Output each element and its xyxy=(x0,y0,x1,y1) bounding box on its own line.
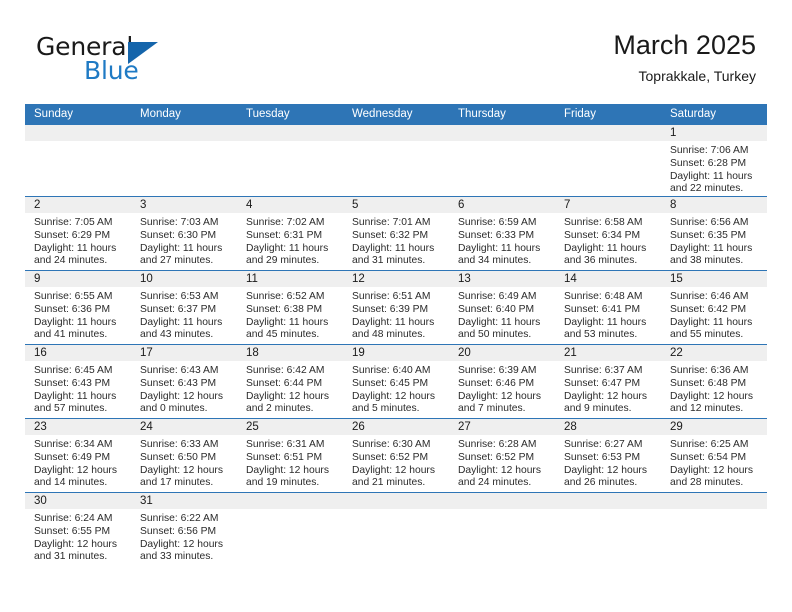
day-details: Sunrise: 6:36 AMSunset: 6:48 PMDaylight:… xyxy=(661,361,767,421)
daylight-text: Daylight: 11 hours and 45 minutes. xyxy=(246,317,338,343)
sunset-text: Sunset: 6:41 PM xyxy=(564,304,656,317)
daylight-text: Daylight: 12 hours and 21 minutes. xyxy=(352,465,444,491)
sunrise-text: Sunrise: 6:59 AM xyxy=(458,217,550,230)
day-number: 2 xyxy=(25,197,131,213)
sunrise-text: Sunrise: 6:58 AM xyxy=(564,217,656,230)
location-subtitle: Toprakkale, Turkey xyxy=(613,66,756,86)
sunset-text: Sunset: 6:45 PM xyxy=(352,378,444,391)
day-number: 29 xyxy=(661,419,767,435)
sunrise-text: Sunrise: 6:46 AM xyxy=(670,291,762,304)
page-header: General Blue March 2025 Toprakkale, Turk… xyxy=(0,0,792,96)
day-number: 21 xyxy=(555,345,661,361)
calendar-day-cell-empty xyxy=(555,125,661,196)
sunrise-text: Sunrise: 6:22 AM xyxy=(140,513,232,526)
weekday-header-saturday: Saturday xyxy=(661,104,767,125)
day-number xyxy=(449,125,555,141)
day-number xyxy=(131,125,237,141)
daylight-text: Daylight: 12 hours and 31 minutes. xyxy=(34,539,126,565)
sunset-text: Sunset: 6:49 PM xyxy=(34,452,126,465)
sunset-text: Sunset: 6:54 PM xyxy=(670,452,762,465)
day-details: Sunrise: 6:30 AMSunset: 6:52 PMDaylight:… xyxy=(343,435,449,495)
daylight-text: Daylight: 11 hours and 53 minutes. xyxy=(564,317,656,343)
day-details: Sunrise: 6:22 AMSunset: 6:56 PMDaylight:… xyxy=(131,509,237,569)
calendar-day-cell[interactable]: 3Sunrise: 7:03 AMSunset: 6:30 PMDaylight… xyxy=(131,197,237,270)
calendar-day-cell[interactable]: 18Sunrise: 6:42 AMSunset: 6:44 PMDayligh… xyxy=(237,345,343,418)
day-number: 10 xyxy=(131,271,237,287)
brand-name-blue: Blue xyxy=(84,56,139,85)
calendar-day-cell-empty xyxy=(131,125,237,196)
weekday-header-row: Sunday Monday Tuesday Wednesday Thursday… xyxy=(25,104,767,125)
day-details: Sunrise: 6:49 AMSunset: 6:40 PMDaylight:… xyxy=(449,287,555,347)
sunrise-text: Sunrise: 6:52 AM xyxy=(246,291,338,304)
sunrise-text: Sunrise: 7:01 AM xyxy=(352,217,444,230)
sunset-text: Sunset: 6:46 PM xyxy=(458,378,550,391)
calendar-week-row: 9Sunrise: 6:55 AMSunset: 6:36 PMDaylight… xyxy=(25,271,767,345)
day-details: Sunrise: 6:51 AMSunset: 6:39 PMDaylight:… xyxy=(343,287,449,347)
calendar-day-cell[interactable]: 22Sunrise: 6:36 AMSunset: 6:48 PMDayligh… xyxy=(661,345,767,418)
sunset-text: Sunset: 6:38 PM xyxy=(246,304,338,317)
day-number: 13 xyxy=(449,271,555,287)
sunset-text: Sunset: 6:52 PM xyxy=(458,452,550,465)
sunrise-text: Sunrise: 6:53 AM xyxy=(140,291,232,304)
calendar-day-cell-empty xyxy=(343,493,449,567)
day-number: 25 xyxy=(237,419,343,435)
day-details: Sunrise: 6:52 AMSunset: 6:38 PMDaylight:… xyxy=(237,287,343,347)
sunrise-text: Sunrise: 6:31 AM xyxy=(246,439,338,452)
daylight-text: Daylight: 11 hours and 43 minutes. xyxy=(140,317,232,343)
sunset-text: Sunset: 6:35 PM xyxy=(670,230,762,243)
calendar-day-cell-empty xyxy=(237,493,343,567)
day-number xyxy=(555,493,661,509)
day-details: Sunrise: 6:55 AMSunset: 6:36 PMDaylight:… xyxy=(25,287,131,347)
day-number: 11 xyxy=(237,271,343,287)
sunrise-text: Sunrise: 7:02 AM xyxy=(246,217,338,230)
sunset-text: Sunset: 6:42 PM xyxy=(670,304,762,317)
sunrise-text: Sunrise: 6:28 AM xyxy=(458,439,550,452)
daylight-text: Daylight: 11 hours and 48 minutes. xyxy=(352,317,444,343)
title-block: March 2025 Toprakkale, Turkey xyxy=(613,28,756,86)
sunset-text: Sunset: 6:37 PM xyxy=(140,304,232,317)
calendar-day-cell[interactable]: 8Sunrise: 6:56 AMSunset: 6:35 PMDaylight… xyxy=(661,197,767,270)
sunset-text: Sunset: 6:52 PM xyxy=(352,452,444,465)
sunset-text: Sunset: 6:40 PM xyxy=(458,304,550,317)
sunrise-text: Sunrise: 7:03 AM xyxy=(140,217,232,230)
daylight-text: Daylight: 12 hours and 28 minutes. xyxy=(670,465,762,491)
day-details: Sunrise: 6:37 AMSunset: 6:47 PMDaylight:… xyxy=(555,361,661,421)
calendar-day-cell-empty xyxy=(343,125,449,196)
day-details: Sunrise: 6:28 AMSunset: 6:52 PMDaylight:… xyxy=(449,435,555,495)
day-number: 4 xyxy=(237,197,343,213)
sunrise-text: Sunrise: 6:45 AM xyxy=(34,365,126,378)
day-details: Sunrise: 6:24 AMSunset: 6:55 PMDaylight:… xyxy=(25,509,131,569)
day-number: 31 xyxy=(131,493,237,509)
sunset-text: Sunset: 6:55 PM xyxy=(34,526,126,539)
calendar-day-cell[interactable]: 30Sunrise: 6:24 AMSunset: 6:55 PMDayligh… xyxy=(25,493,131,567)
day-number: 14 xyxy=(555,271,661,287)
day-number: 23 xyxy=(25,419,131,435)
day-number xyxy=(237,493,343,509)
calendar-week-row: 23Sunrise: 6:34 AMSunset: 6:49 PMDayligh… xyxy=(25,419,767,493)
calendar-week-row: 1Sunrise: 7:06 AMSunset: 6:28 PMDaylight… xyxy=(25,125,767,197)
day-details: Sunrise: 7:05 AMSunset: 6:29 PMDaylight:… xyxy=(25,213,131,273)
day-number: 27 xyxy=(449,419,555,435)
calendar-day-cell[interactable]: 5Sunrise: 7:01 AMSunset: 6:32 PMDaylight… xyxy=(343,197,449,270)
day-number: 30 xyxy=(25,493,131,509)
day-number: 12 xyxy=(343,271,449,287)
sunrise-text: Sunrise: 6:49 AM xyxy=(458,291,550,304)
day-number: 5 xyxy=(343,197,449,213)
weekday-header-tuesday: Tuesday xyxy=(237,104,343,125)
day-number xyxy=(343,125,449,141)
sunrise-text: Sunrise: 6:39 AM xyxy=(458,365,550,378)
sunrise-text: Sunrise: 6:55 AM xyxy=(34,291,126,304)
day-details: Sunrise: 6:27 AMSunset: 6:53 PMDaylight:… xyxy=(555,435,661,495)
calendar-day-cell[interactable]: 16Sunrise: 6:45 AMSunset: 6:43 PMDayligh… xyxy=(25,345,131,418)
calendar-week-row: 16Sunrise: 6:45 AMSunset: 6:43 PMDayligh… xyxy=(25,345,767,419)
daylight-text: Daylight: 12 hours and 12 minutes. xyxy=(670,391,762,417)
sunset-text: Sunset: 6:34 PM xyxy=(564,230,656,243)
sunset-text: Sunset: 6:28 PM xyxy=(670,158,762,171)
day-details: Sunrise: 6:53 AMSunset: 6:37 PMDaylight:… xyxy=(131,287,237,347)
calendar-day-cell[interactable]: 28Sunrise: 6:27 AMSunset: 6:53 PMDayligh… xyxy=(555,419,661,492)
calendar-day-cell[interactable]: 21Sunrise: 6:37 AMSunset: 6:47 PMDayligh… xyxy=(555,345,661,418)
day-details: Sunrise: 7:06 AMSunset: 6:28 PMDaylight:… xyxy=(661,141,767,201)
daylight-text: Daylight: 11 hours and 27 minutes. xyxy=(140,243,232,269)
brand-logo: General Blue xyxy=(36,32,236,88)
daylight-text: Daylight: 11 hours and 34 minutes. xyxy=(458,243,550,269)
day-number: 22 xyxy=(661,345,767,361)
sunrise-text: Sunrise: 7:06 AM xyxy=(670,145,762,158)
calendar-day-cell[interactable]: 1Sunrise: 7:06 AMSunset: 6:28 PMDaylight… xyxy=(661,125,767,196)
daylight-text: Daylight: 12 hours and 7 minutes. xyxy=(458,391,550,417)
weekday-header-wednesday: Wednesday xyxy=(343,104,449,125)
calendar-day-cell[interactable]: 4Sunrise: 7:02 AMSunset: 6:31 PMDaylight… xyxy=(237,197,343,270)
day-number xyxy=(449,493,555,509)
daylight-text: Daylight: 11 hours and 36 minutes. xyxy=(564,243,656,269)
sunrise-text: Sunrise: 6:37 AM xyxy=(564,365,656,378)
weekday-header-monday: Monday xyxy=(131,104,237,125)
calendar-day-cell[interactable]: 6Sunrise: 6:59 AMSunset: 6:33 PMDaylight… xyxy=(449,197,555,270)
daylight-text: Daylight: 12 hours and 33 minutes. xyxy=(140,539,232,565)
day-number: 24 xyxy=(131,419,237,435)
sunrise-text: Sunrise: 6:30 AM xyxy=(352,439,444,452)
page-title: March 2025 xyxy=(613,28,756,62)
weekday-header-friday: Friday xyxy=(555,104,661,125)
day-number: 8 xyxy=(661,197,767,213)
day-number: 6 xyxy=(449,197,555,213)
calendar-day-cell[interactable]: 9Sunrise: 6:55 AMSunset: 6:36 PMDaylight… xyxy=(25,271,131,344)
sunrise-text: Sunrise: 6:34 AM xyxy=(34,439,126,452)
day-number: 17 xyxy=(131,345,237,361)
calendar-day-cell[interactable]: 29Sunrise: 6:25 AMSunset: 6:54 PMDayligh… xyxy=(661,419,767,492)
day-details: Sunrise: 6:34 AMSunset: 6:49 PMDaylight:… xyxy=(25,435,131,495)
day-details: Sunrise: 6:43 AMSunset: 6:43 PMDaylight:… xyxy=(131,361,237,421)
calendar-day-cell[interactable]: 19Sunrise: 6:40 AMSunset: 6:45 PMDayligh… xyxy=(343,345,449,418)
day-number xyxy=(25,125,131,141)
daylight-text: Daylight: 12 hours and 19 minutes. xyxy=(246,465,338,491)
daylight-text: Daylight: 12 hours and 2 minutes. xyxy=(246,391,338,417)
sunset-text: Sunset: 6:44 PM xyxy=(246,378,338,391)
sunset-text: Sunset: 6:39 PM xyxy=(352,304,444,317)
day-details: Sunrise: 6:46 AMSunset: 6:42 PMDaylight:… xyxy=(661,287,767,347)
daylight-text: Daylight: 11 hours and 50 minutes. xyxy=(458,317,550,343)
calendar-day-cell[interactable]: 10Sunrise: 6:53 AMSunset: 6:37 PMDayligh… xyxy=(131,271,237,344)
day-number: 18 xyxy=(237,345,343,361)
calendar-day-cell[interactable]: 20Sunrise: 6:39 AMSunset: 6:46 PMDayligh… xyxy=(449,345,555,418)
day-details: Sunrise: 7:03 AMSunset: 6:30 PMDaylight:… xyxy=(131,213,237,273)
sunrise-text: Sunrise: 6:51 AM xyxy=(352,291,444,304)
calendar-day-cell[interactable]: 13Sunrise: 6:49 AMSunset: 6:40 PMDayligh… xyxy=(449,271,555,344)
daylight-text: Daylight: 11 hours and 24 minutes. xyxy=(34,243,126,269)
day-number: 16 xyxy=(25,345,131,361)
sunset-text: Sunset: 6:43 PM xyxy=(34,378,126,391)
day-number: 9 xyxy=(25,271,131,287)
daylight-text: Daylight: 12 hours and 14 minutes. xyxy=(34,465,126,491)
calendar-day-cell[interactable]: 14Sunrise: 6:48 AMSunset: 6:41 PMDayligh… xyxy=(555,271,661,344)
sunrise-text: Sunrise: 6:43 AM xyxy=(140,365,232,378)
sunset-text: Sunset: 6:48 PM xyxy=(670,378,762,391)
day-number xyxy=(555,125,661,141)
sunrise-text: Sunrise: 6:42 AM xyxy=(246,365,338,378)
daylight-text: Daylight: 12 hours and 9 minutes. xyxy=(564,391,656,417)
day-details: Sunrise: 6:59 AMSunset: 6:33 PMDaylight:… xyxy=(449,213,555,273)
sunset-text: Sunset: 6:50 PM xyxy=(140,452,232,465)
day-number: 7 xyxy=(555,197,661,213)
day-details: Sunrise: 6:33 AMSunset: 6:50 PMDaylight:… xyxy=(131,435,237,495)
day-number: 3 xyxy=(131,197,237,213)
calendar-day-cell[interactable]: 15Sunrise: 6:46 AMSunset: 6:42 PMDayligh… xyxy=(661,271,767,344)
daylight-text: Daylight: 11 hours and 41 minutes. xyxy=(34,317,126,343)
calendar-day-cell-empty xyxy=(449,493,555,567)
sunset-text: Sunset: 6:36 PM xyxy=(34,304,126,317)
calendar-day-cell-empty xyxy=(237,125,343,196)
calendar-day-cell[interactable]: 12Sunrise: 6:51 AMSunset: 6:39 PMDayligh… xyxy=(343,271,449,344)
sunrise-text: Sunrise: 6:48 AM xyxy=(564,291,656,304)
sunrise-text: Sunrise: 6:24 AM xyxy=(34,513,126,526)
calendar-day-cell-empty xyxy=(449,125,555,196)
calendar-week-row: 2Sunrise: 7:05 AMSunset: 6:29 PMDaylight… xyxy=(25,197,767,271)
calendar-day-cell[interactable]: 24Sunrise: 6:33 AMSunset: 6:50 PMDayligh… xyxy=(131,419,237,492)
sunrise-text: Sunrise: 7:05 AM xyxy=(34,217,126,230)
calendar-day-cell-empty xyxy=(25,125,131,196)
calendar-day-cell[interactable]: 27Sunrise: 6:28 AMSunset: 6:52 PMDayligh… xyxy=(449,419,555,492)
calendar-day-cell[interactable]: 2Sunrise: 7:05 AMSunset: 6:29 PMDaylight… xyxy=(25,197,131,270)
calendar-day-cell-empty xyxy=(555,493,661,567)
daylight-text: Daylight: 12 hours and 0 minutes. xyxy=(140,391,232,417)
day-details: Sunrise: 6:42 AMSunset: 6:44 PMDaylight:… xyxy=(237,361,343,421)
daylight-text: Daylight: 12 hours and 26 minutes. xyxy=(564,465,656,491)
weekday-header-sunday: Sunday xyxy=(25,104,131,125)
daylight-text: Daylight: 11 hours and 29 minutes. xyxy=(246,243,338,269)
day-details: Sunrise: 6:40 AMSunset: 6:45 PMDaylight:… xyxy=(343,361,449,421)
day-details: Sunrise: 6:58 AMSunset: 6:34 PMDaylight:… xyxy=(555,213,661,273)
daylight-text: Daylight: 12 hours and 17 minutes. xyxy=(140,465,232,491)
sunrise-text: Sunrise: 6:25 AM xyxy=(670,439,762,452)
daylight-text: Daylight: 12 hours and 24 minutes. xyxy=(458,465,550,491)
calendar-day-cell[interactable]: 11Sunrise: 6:52 AMSunset: 6:38 PMDayligh… xyxy=(237,271,343,344)
calendar-week-row: 30Sunrise: 6:24 AMSunset: 6:55 PMDayligh… xyxy=(25,493,767,567)
sunset-text: Sunset: 6:56 PM xyxy=(140,526,232,539)
sunset-text: Sunset: 6:30 PM xyxy=(140,230,232,243)
day-details: Sunrise: 6:25 AMSunset: 6:54 PMDaylight:… xyxy=(661,435,767,495)
day-details: Sunrise: 6:56 AMSunset: 6:35 PMDaylight:… xyxy=(661,213,767,273)
day-number: 19 xyxy=(343,345,449,361)
sunset-text: Sunset: 6:32 PM xyxy=(352,230,444,243)
sunrise-text: Sunrise: 6:33 AM xyxy=(140,439,232,452)
daylight-text: Daylight: 11 hours and 31 minutes. xyxy=(352,243,444,269)
calendar-day-cell-empty xyxy=(661,493,767,567)
day-number: 28 xyxy=(555,419,661,435)
calendar-day-cell[interactable]: 31Sunrise: 6:22 AMSunset: 6:56 PMDayligh… xyxy=(131,493,237,567)
sunset-text: Sunset: 6:43 PM xyxy=(140,378,232,391)
calendar-grid: Sunday Monday Tuesday Wednesday Thursday… xyxy=(25,104,767,567)
daylight-text: Daylight: 11 hours and 22 minutes. xyxy=(670,171,762,197)
calendar-day-cell[interactable]: 23Sunrise: 6:34 AMSunset: 6:49 PMDayligh… xyxy=(25,419,131,492)
sunrise-text: Sunrise: 6:40 AM xyxy=(352,365,444,378)
calendar-day-cell[interactable]: 7Sunrise: 6:58 AMSunset: 6:34 PMDaylight… xyxy=(555,197,661,270)
calendar-weeks: 1Sunrise: 7:06 AMSunset: 6:28 PMDaylight… xyxy=(25,125,767,567)
day-details: Sunrise: 6:31 AMSunset: 6:51 PMDaylight:… xyxy=(237,435,343,495)
calendar-day-cell[interactable]: 25Sunrise: 6:31 AMSunset: 6:51 PMDayligh… xyxy=(237,419,343,492)
day-details: Sunrise: 7:02 AMSunset: 6:31 PMDaylight:… xyxy=(237,213,343,273)
day-details: Sunrise: 6:45 AMSunset: 6:43 PMDaylight:… xyxy=(25,361,131,421)
sunrise-text: Sunrise: 6:27 AM xyxy=(564,439,656,452)
day-number xyxy=(237,125,343,141)
daylight-text: Daylight: 12 hours and 5 minutes. xyxy=(352,391,444,417)
calendar-day-cell[interactable]: 26Sunrise: 6:30 AMSunset: 6:52 PMDayligh… xyxy=(343,419,449,492)
sunset-text: Sunset: 6:29 PM xyxy=(34,230,126,243)
daylight-text: Daylight: 11 hours and 55 minutes. xyxy=(670,317,762,343)
sunrise-text: Sunrise: 6:36 AM xyxy=(670,365,762,378)
daylight-text: Daylight: 11 hours and 57 minutes. xyxy=(34,391,126,417)
sunset-text: Sunset: 6:31 PM xyxy=(246,230,338,243)
day-number: 15 xyxy=(661,271,767,287)
day-number xyxy=(661,493,767,509)
calendar-page: General Blue March 2025 Toprakkale, Turk… xyxy=(0,0,792,612)
sunset-text: Sunset: 6:47 PM xyxy=(564,378,656,391)
daylight-text: Daylight: 11 hours and 38 minutes. xyxy=(670,243,762,269)
day-number: 26 xyxy=(343,419,449,435)
day-number: 20 xyxy=(449,345,555,361)
day-details: Sunrise: 6:39 AMSunset: 6:46 PMDaylight:… xyxy=(449,361,555,421)
sunset-text: Sunset: 6:33 PM xyxy=(458,230,550,243)
weekday-header-thursday: Thursday xyxy=(449,104,555,125)
sunset-text: Sunset: 6:51 PM xyxy=(246,452,338,465)
day-details: Sunrise: 6:48 AMSunset: 6:41 PMDaylight:… xyxy=(555,287,661,347)
day-number xyxy=(343,493,449,509)
sunrise-text: Sunrise: 6:56 AM xyxy=(670,217,762,230)
sunset-text: Sunset: 6:53 PM xyxy=(564,452,656,465)
day-details: Sunrise: 7:01 AMSunset: 6:32 PMDaylight:… xyxy=(343,213,449,273)
calendar-day-cell[interactable]: 17Sunrise: 6:43 AMSunset: 6:43 PMDayligh… xyxy=(131,345,237,418)
day-number: 1 xyxy=(661,125,767,141)
